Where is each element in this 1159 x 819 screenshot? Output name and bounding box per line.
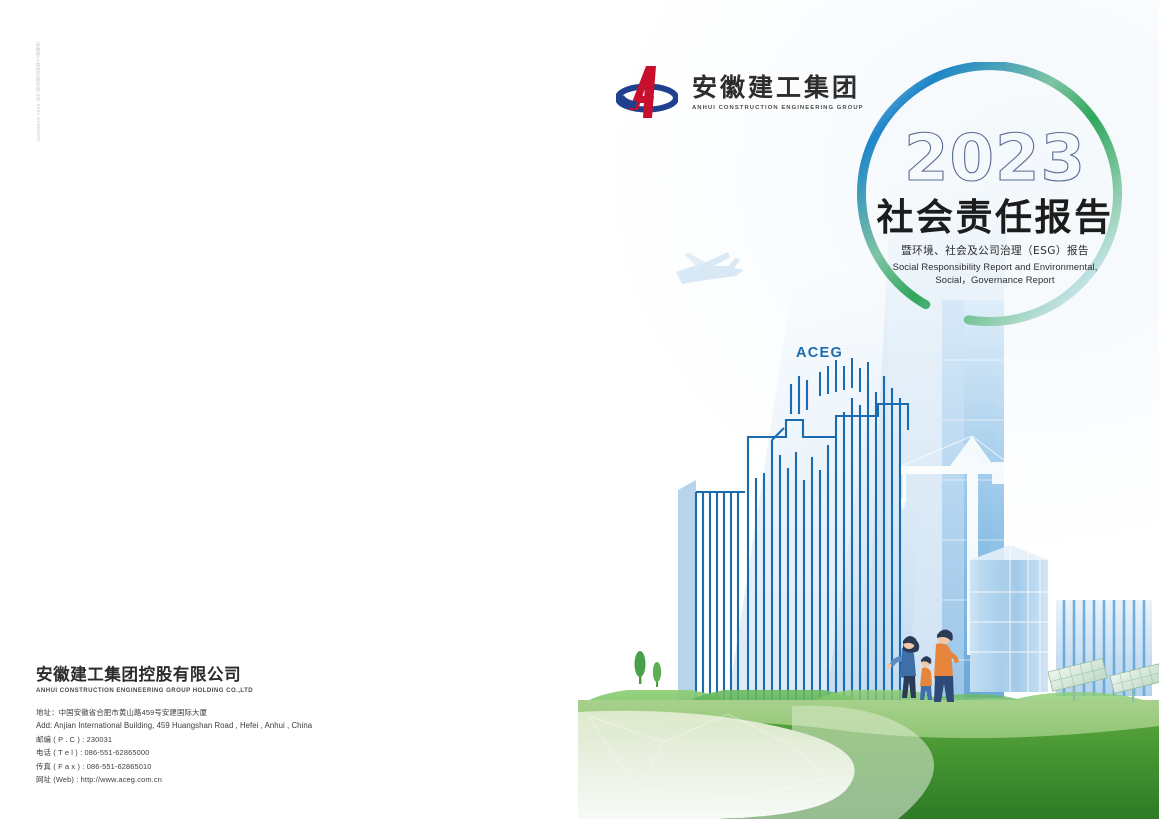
report-subtitle-en-line2: Social，Governance Report bbox=[874, 274, 1116, 287]
contact-line: 传真 ( F a x ) : 086-551-62865010 bbox=[36, 760, 456, 773]
report-subtitle-cn: 暨环境、社会及公司治理（ESG）报告 bbox=[874, 244, 1116, 258]
contact-list: 地址：中国安徽省合肥市黄山路459号安建国际大厦Add: Anjian Inte… bbox=[36, 706, 456, 786]
airplane-icon bbox=[676, 252, 744, 284]
report-cover-spread: 安徽建工集团控股有限公司 0551-62865000 安徽建工集团控股有限公司 … bbox=[0, 0, 1159, 819]
company-name-cn: 安徽建工集团控股有限公司 bbox=[36, 665, 456, 685]
mid-tower-right bbox=[970, 545, 1048, 692]
cover-title-block: 2023 社会责任报告 暨环境、社会及公司治理（ESG）报告 Social Re… bbox=[874, 128, 1116, 286]
back-cover: 安徽建工集团控股有限公司 0551-62865000 安徽建工集团控股有限公司 … bbox=[0, 0, 578, 819]
logo-name-cn: 安徽建工集团 bbox=[692, 74, 864, 102]
logo-mark-icon bbox=[616, 62, 678, 122]
ground bbox=[578, 686, 1159, 819]
back-cover-info-block: 安徽建工集团控股有限公司 ANHUI CONSTRUCTION ENGINEER… bbox=[36, 665, 456, 786]
report-year: 2023 bbox=[874, 128, 1116, 190]
company-name-en: ANHUI CONSTRUCTION ENGINEERING GROUP HOL… bbox=[36, 687, 456, 694]
front-cover: 安徽建工集团 ANHUI CONSTRUCTION ENGINEERING GR… bbox=[578, 0, 1159, 819]
trees bbox=[635, 651, 662, 687]
contact-line: 网址 (Web) : http://www.aceg.com.cn bbox=[36, 773, 456, 786]
line-art-skyline bbox=[696, 358, 908, 700]
logo-text: 安徽建工集团 ANHUI CONSTRUCTION ENGINEERING GR… bbox=[692, 62, 864, 111]
report-title-cn: 社会责任报告 bbox=[874, 196, 1116, 239]
aceg-label: ACEG bbox=[796, 345, 843, 361]
company-logo: 安徽建工集团 ANHUI CONSTRUCTION ENGINEERING GR… bbox=[616, 62, 864, 122]
spine-text: 安徽建工集团控股有限公司 0551-62865000 bbox=[28, 42, 42, 162]
contact-line: 邮编 ( P . C ) : 230031 bbox=[36, 733, 456, 746]
contact-line: Add: Anjian International Building, 459 … bbox=[36, 719, 456, 732]
contact-line: 电话 ( T e l ) : 086-551-62865000 bbox=[36, 746, 456, 759]
report-subtitle-en-line1: Social Responsibility Report and Environ… bbox=[874, 261, 1116, 274]
contact-line: 地址：中国安徽省合肥市黄山路459号安建国际大厦 bbox=[36, 706, 456, 719]
logo-name-en: ANHUI CONSTRUCTION ENGINEERING GROUP bbox=[692, 105, 864, 111]
